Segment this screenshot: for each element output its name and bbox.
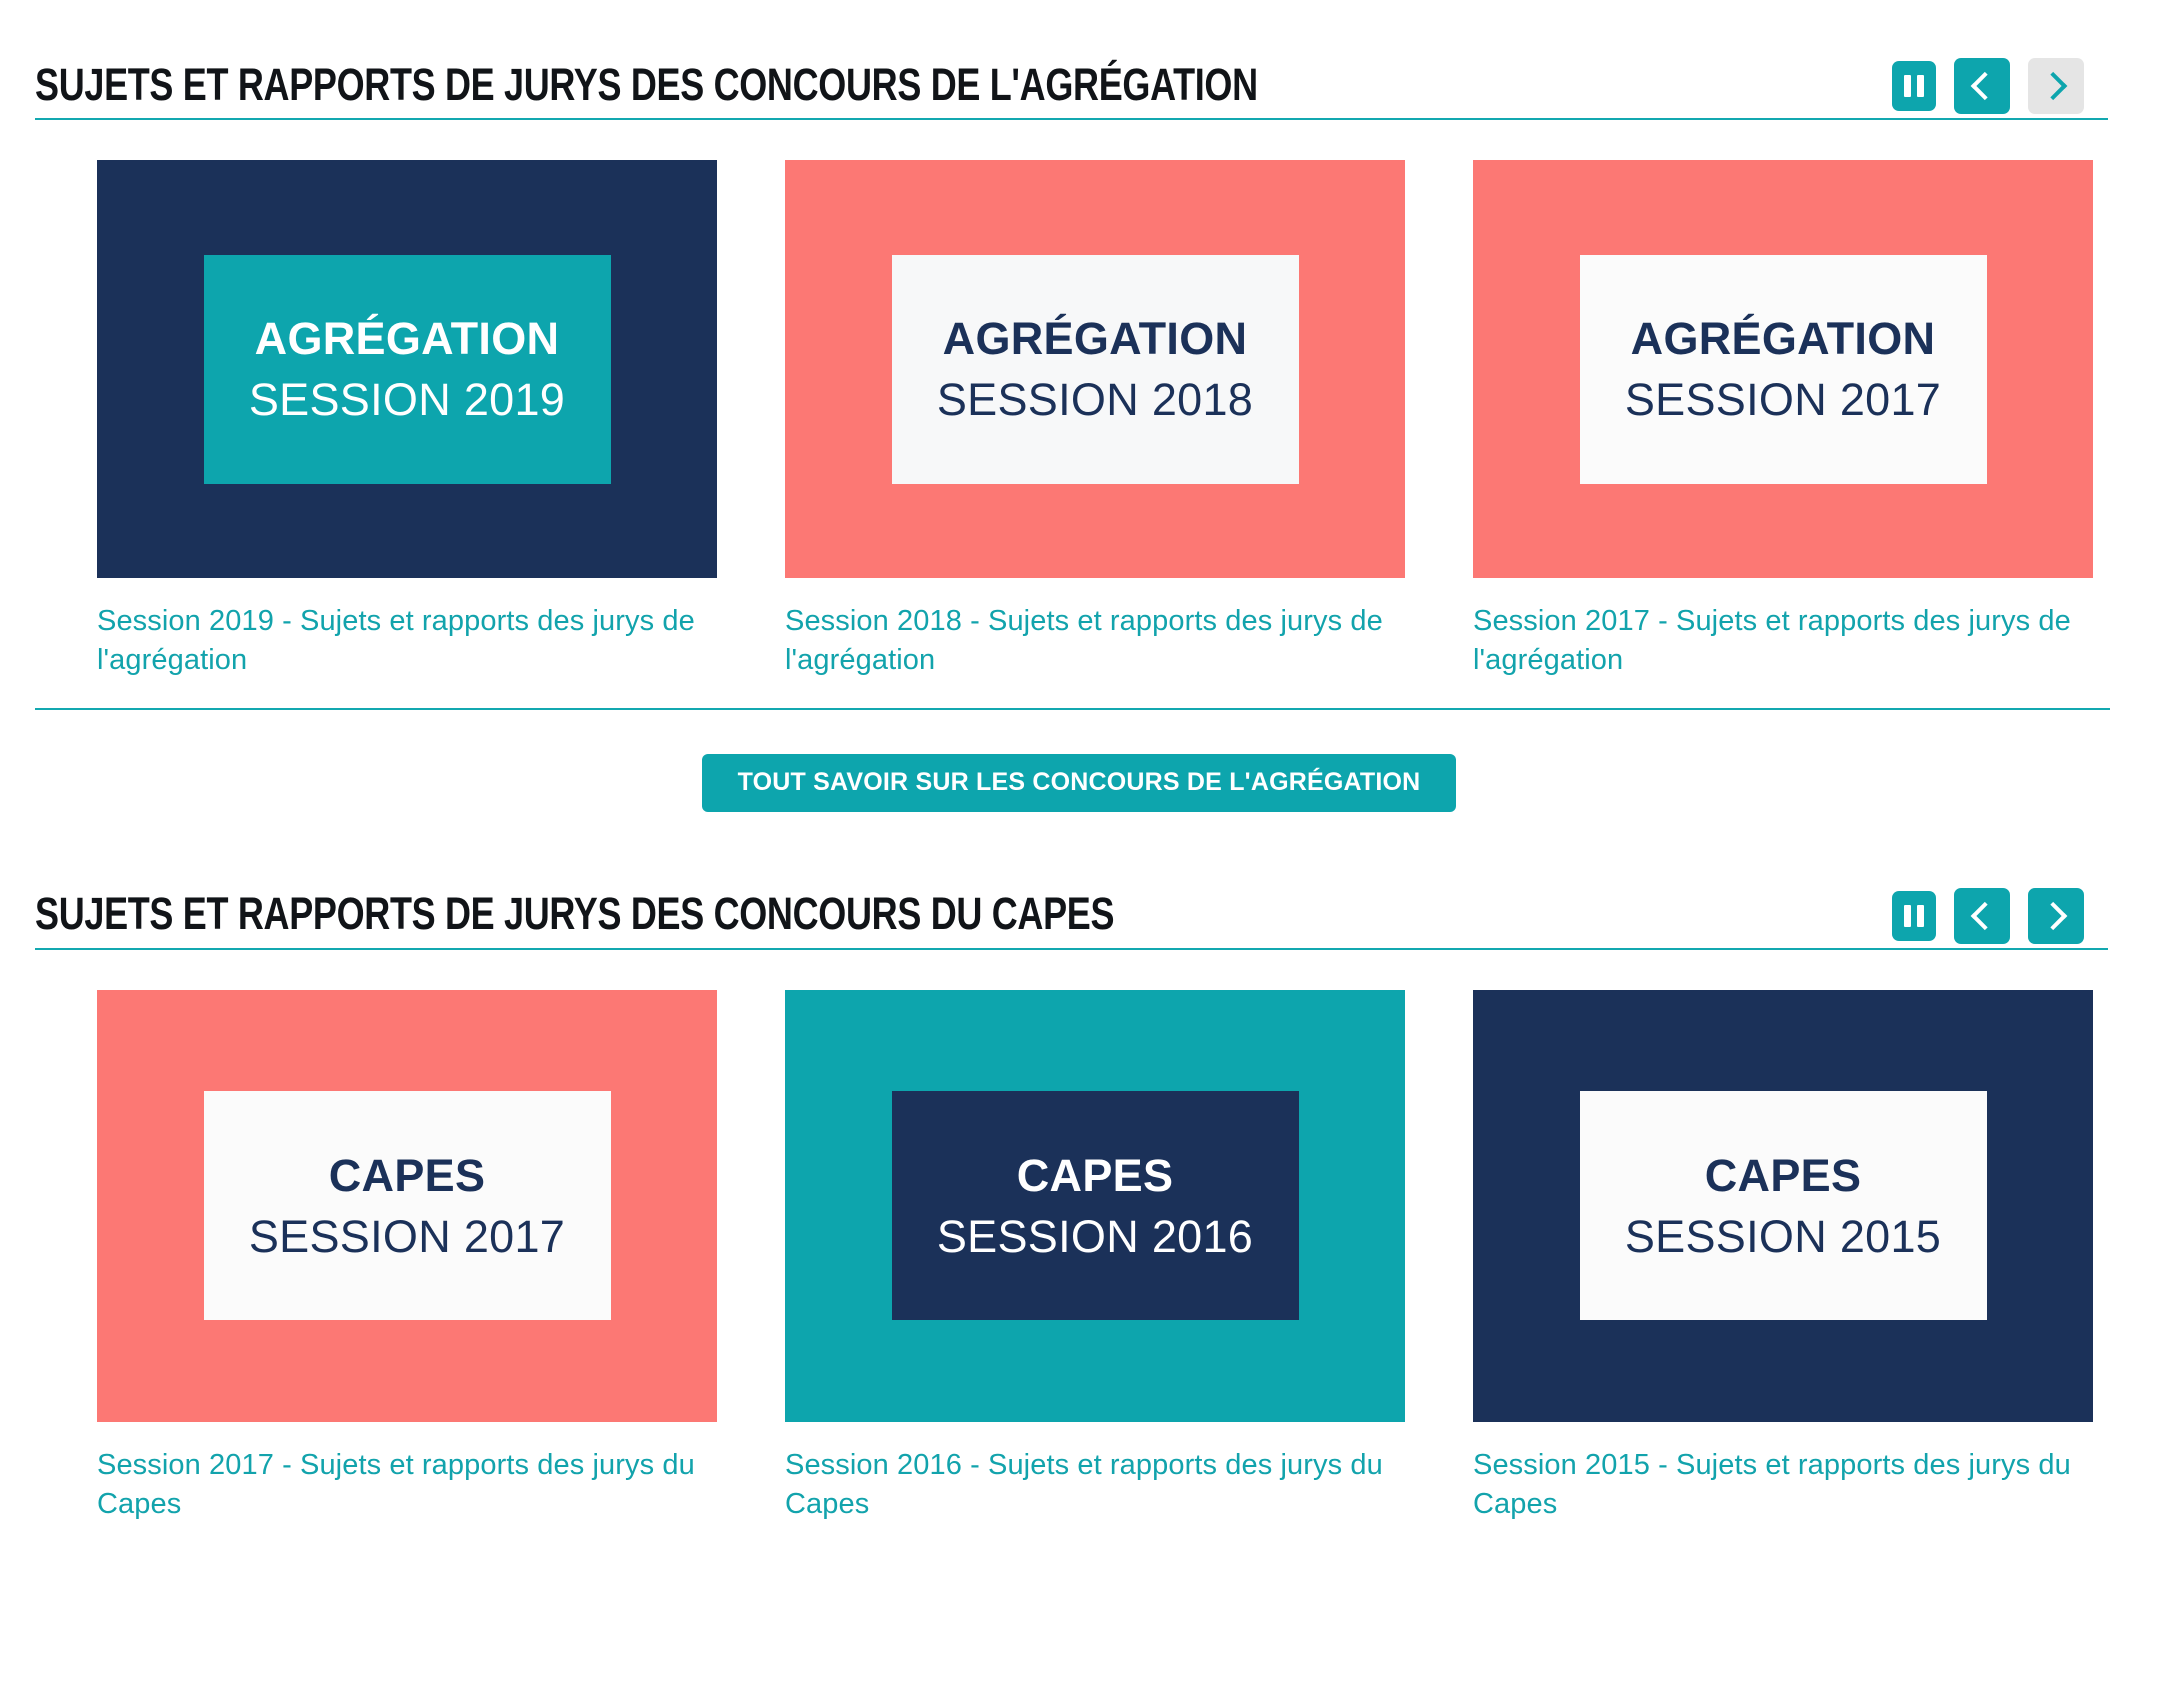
card-thumbnail: AGRÉGATION SESSION 2019 — [97, 160, 717, 578]
section-header-capes: SUJETS ET RAPPORTS DE JURYS DES CONCOURS… — [35, 830, 2110, 948]
card-thumb-line2: SESSION 2016 — [937, 1214, 1253, 1259]
card-thumbnail: CAPES SESSION 2016 — [785, 990, 1405, 1422]
carousel-controls-agregation — [1892, 58, 2084, 114]
chevron-right-icon — [2039, 902, 2067, 930]
card-caption[interactable]: Session 2015 - Sujets et rapports des ju… — [1473, 1446, 2093, 1524]
card-thumb-line1: AGRÉGATION — [943, 316, 1248, 361]
card-caption[interactable]: Session 2017 - Sujets et rapports des ju… — [97, 1446, 717, 1524]
list-item[interactable]: CAPES SESSION 2017 Session 2017 - Sujets… — [97, 990, 717, 1524]
card-thumb-line1: CAPES — [1017, 1153, 1174, 1198]
card-thumbnail-panel: CAPES SESSION 2015 — [1580, 1091, 1987, 1320]
page-title: SUJETS ET RAPPORTS DE JURYS DES CONCOURS… — [35, 61, 1258, 108]
card-thumbnail: CAPES SESSION 2017 — [97, 990, 717, 1422]
carousel-controls-capes — [1892, 888, 2084, 944]
card-list-capes: CAPES SESSION 2017 Session 2017 - Sujets… — [0, 990, 2158, 1524]
next-button[interactable] — [2028, 58, 2084, 114]
list-item[interactable]: AGRÉGATION SESSION 2019 Session 2019 - S… — [97, 160, 717, 680]
chevron-right-icon — [2039, 72, 2067, 100]
card-thumb-line1: AGRÉGATION — [255, 316, 560, 361]
chevron-left-icon — [1971, 72, 1999, 100]
next-button[interactable] — [2028, 888, 2084, 944]
card-thumb-line2: SESSION 2015 — [1625, 1214, 1941, 1259]
page-title-capes: SUJETS ET RAPPORTS DE JURYS DES CONCOURS… — [35, 890, 1114, 937]
pause-icon — [1904, 905, 1924, 927]
list-item[interactable]: CAPES SESSION 2015 Session 2015 - Sujets… — [1473, 990, 2093, 1524]
card-thumb-line2: SESSION 2017 — [249, 1214, 565, 1259]
card-thumbnail: AGRÉGATION SESSION 2018 — [785, 160, 1405, 578]
tout-savoir-agregation-button[interactable]: TOUT SAVOIR SUR LES CONCOURS DE L'AGRÉGA… — [702, 754, 1457, 812]
card-thumb-line1: CAPES — [1705, 1153, 1862, 1198]
prev-button[interactable] — [1954, 888, 2010, 944]
card-thumbnail-panel: AGRÉGATION SESSION 2018 — [892, 255, 1299, 484]
section-divider-bottom — [35, 708, 2110, 710]
section-agregation: SUJETS ET RAPPORTS DE JURYS DES CONCOURS… — [0, 0, 2158, 812]
list-item[interactable]: AGRÉGATION SESSION 2018 Session 2018 - S… — [785, 160, 1405, 680]
card-list-agregation: AGRÉGATION SESSION 2019 Session 2019 - S… — [0, 160, 2158, 680]
chevron-left-icon — [1971, 902, 1999, 930]
card-caption[interactable]: Session 2019 - Sujets et rapports des ju… — [97, 602, 717, 680]
page-root: SUJETS ET RAPPORTS DE JURYS DES CONCOURS… — [0, 0, 2158, 1683]
card-thumbnail-panel: CAPES SESSION 2017 — [204, 1091, 611, 1320]
card-caption[interactable]: Session 2016 - Sujets et rapports des ju… — [785, 1446, 1405, 1524]
card-thumb-line2: SESSION 2019 — [249, 377, 565, 422]
card-thumbnail-panel: AGRÉGATION SESSION 2017 — [1580, 255, 1987, 484]
card-thumb-line1: CAPES — [329, 1153, 486, 1198]
card-thumb-line1: AGRÉGATION — [1631, 316, 1936, 361]
section-header-agregation: SUJETS ET RAPPORTS DE JURYS DES CONCOURS… — [35, 0, 2110, 118]
section-capes: SUJETS ET RAPPORTS DE JURYS DES CONCOURS… — [0, 830, 2158, 1524]
card-thumbnail-panel: AGRÉGATION SESSION 2019 — [204, 255, 611, 484]
card-caption[interactable]: Session 2018 - Sujets et rapports des ju… — [785, 602, 1405, 680]
cta-wrapper: TOUT SAVOIR SUR LES CONCOURS DE L'AGRÉGA… — [0, 754, 2158, 812]
card-thumbnail: AGRÉGATION SESSION 2017 — [1473, 160, 2093, 578]
pause-button[interactable] — [1892, 891, 1936, 941]
pause-icon — [1904, 75, 1924, 97]
list-item[interactable]: CAPES SESSION 2016 Session 2016 - Sujets… — [785, 990, 1405, 1524]
card-thumbnail-panel: CAPES SESSION 2016 — [892, 1091, 1299, 1320]
pause-button[interactable] — [1892, 61, 1936, 111]
list-item[interactable]: AGRÉGATION SESSION 2017 Session 2017 - S… — [1473, 160, 2093, 680]
prev-button[interactable] — [1954, 58, 2010, 114]
card-thumb-line2: SESSION 2018 — [937, 377, 1253, 422]
card-thumbnail: CAPES SESSION 2015 — [1473, 990, 2093, 1422]
card-caption[interactable]: Session 2017 - Sujets et rapports des ju… — [1473, 602, 2093, 680]
card-thumb-line2: SESSION 2017 — [1625, 377, 1941, 422]
